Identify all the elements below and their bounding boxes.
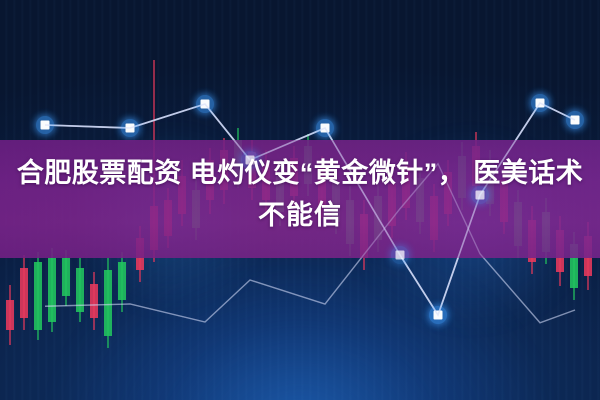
cover-image: 合肥股票配资 电灼仪变“黄金微针”， 医美话术 不能信 <box>0 0 600 400</box>
headline-line-2: 不能信 <box>12 194 588 236</box>
headline: 合肥股票配资 电灼仪变“黄金微针”， 医美话术 不能信 <box>0 152 600 236</box>
headline-line-1: 合肥股票配资 电灼仪变“黄金微针”， 医美话术 <box>12 152 588 194</box>
